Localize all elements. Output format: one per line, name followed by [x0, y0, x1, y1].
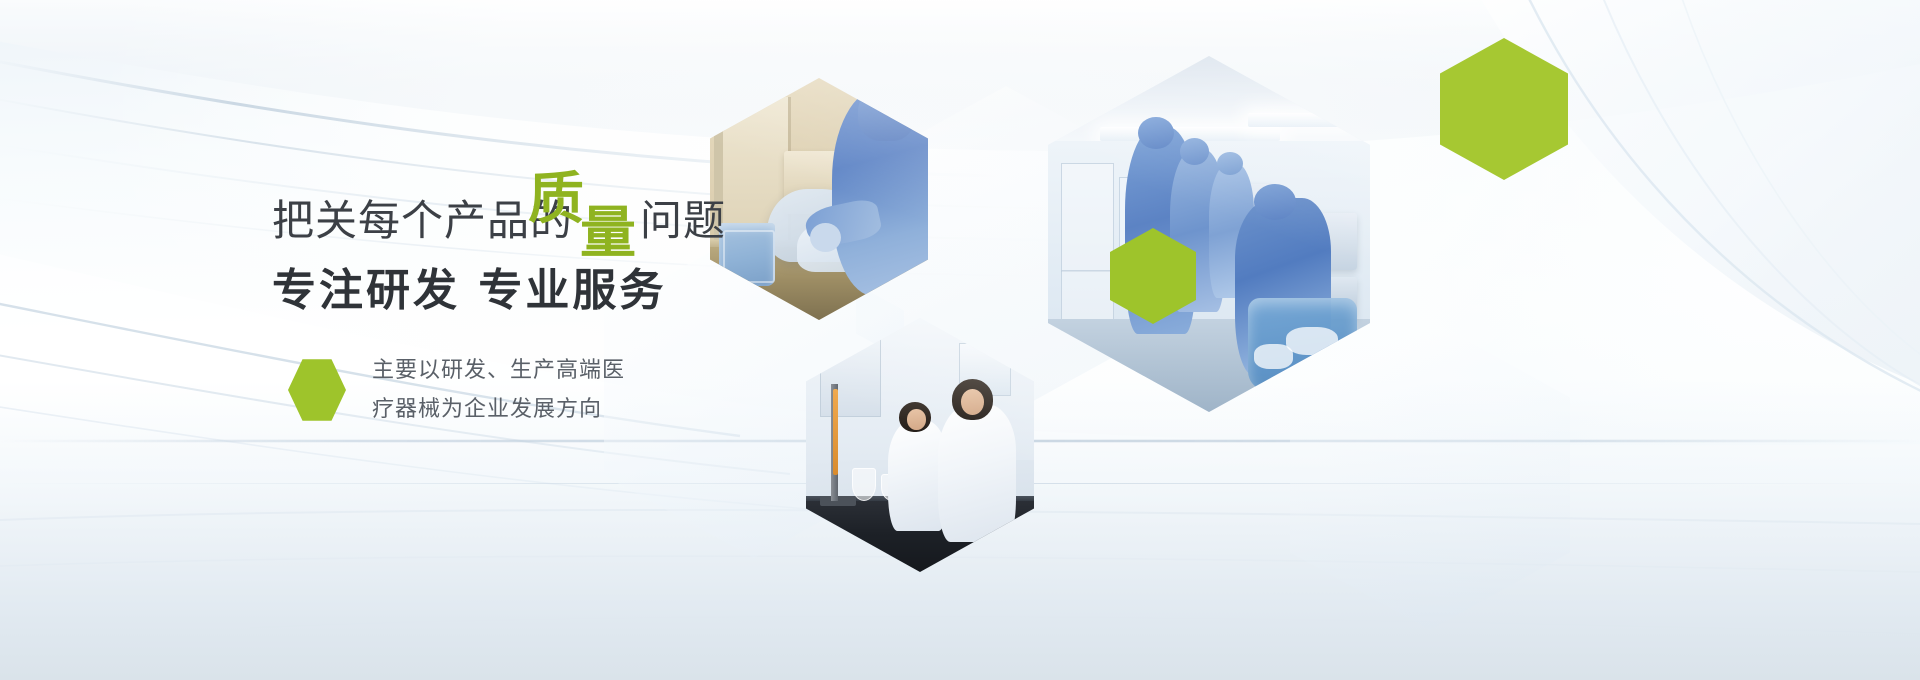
headline-accent-zhi: 质: [528, 172, 584, 228]
hero-banner: 把关每个产品的 质 量 问题 专注研发 专业服务 主要以研发、生产高端医 疗器械…: [0, 0, 1920, 680]
subtitle-block: 主要以研发、生产高端医 疗器械为企业发展方向: [288, 352, 625, 429]
headline-line-1: 把关每个产品的 质 量 问题: [272, 172, 912, 250]
headline-line-2: 专注研发 专业服务: [272, 266, 912, 317]
headline-line1-part2: 问题: [640, 200, 726, 242]
subtitle-text: 主要以研发、生产高端医 疗器械为企业发展方向: [372, 352, 625, 429]
lab-technician-1: [938, 404, 1016, 541]
hexagon-bullet-icon: [288, 358, 346, 422]
banner-copy: 把关每个产品的 质 量 问题 专注研发 专业服务: [272, 172, 912, 317]
headline-accent-liang: 量: [580, 206, 636, 262]
